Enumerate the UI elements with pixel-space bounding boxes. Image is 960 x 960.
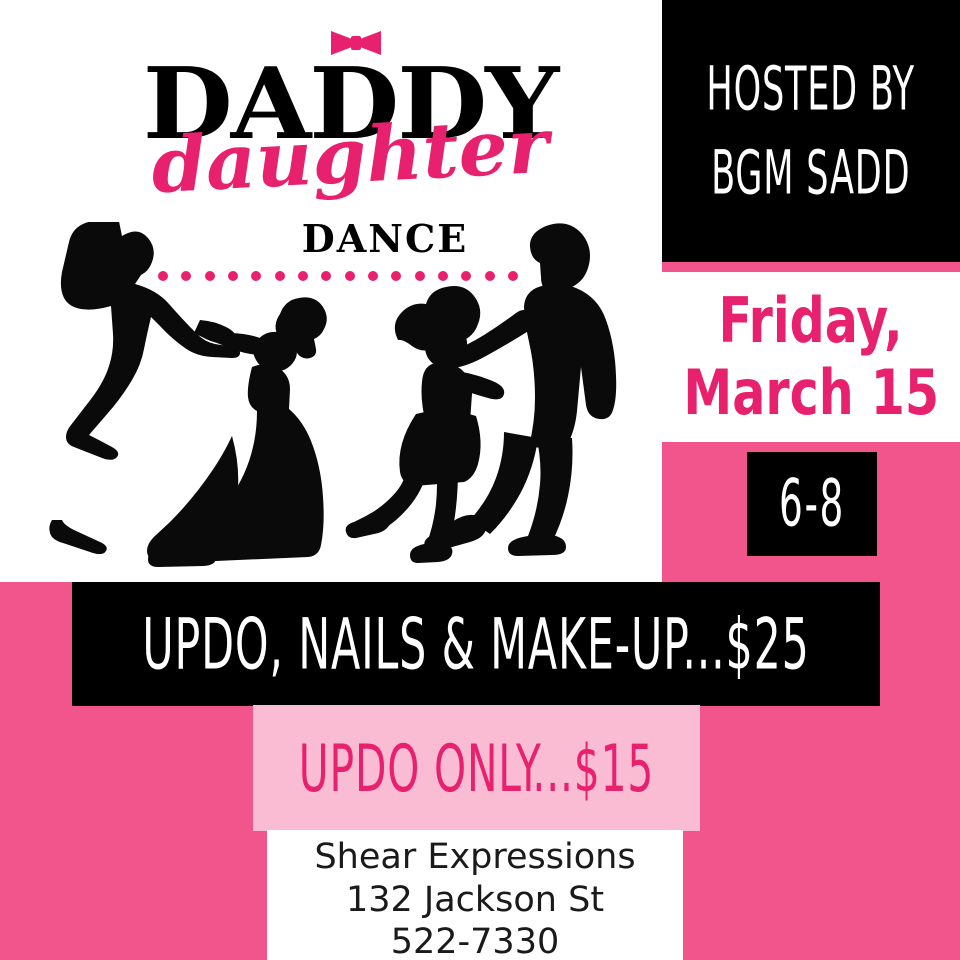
salon-name: Shear Expressions bbox=[314, 836, 635, 879]
salon-contact-block: Shear Expressions 132 Jackson St 522-733… bbox=[267, 836, 683, 960]
date-block: Friday, March 15 bbox=[662, 272, 960, 442]
father-daughter-dancing-silhouette bbox=[4, 222, 334, 580]
salon-address: 132 Jackson St bbox=[346, 879, 604, 922]
host-block: HOSTED BY BGM SADD bbox=[662, 0, 960, 262]
daddy-daughter-dance-flyer: DADDY daughter DANCE bbox=[0, 0, 960, 960]
father-daughter-walking-silhouette bbox=[340, 218, 650, 582]
host-pink-divider bbox=[662, 262, 960, 272]
host-label: HOSTED BY bbox=[707, 55, 915, 123]
salon-phone[interactable]: 522-7330 bbox=[391, 921, 560, 960]
logo-daughter-text: daughter bbox=[144, 107, 555, 204]
host-organization: BGM SADD bbox=[711, 139, 910, 207]
time-block: 6-8 bbox=[760, 439, 864, 569]
date-month-day: March 15 bbox=[683, 362, 939, 424]
date-day: Friday, bbox=[719, 290, 903, 352]
services-updo-only: UPDO ONLY...$15 bbox=[289, 692, 664, 843]
